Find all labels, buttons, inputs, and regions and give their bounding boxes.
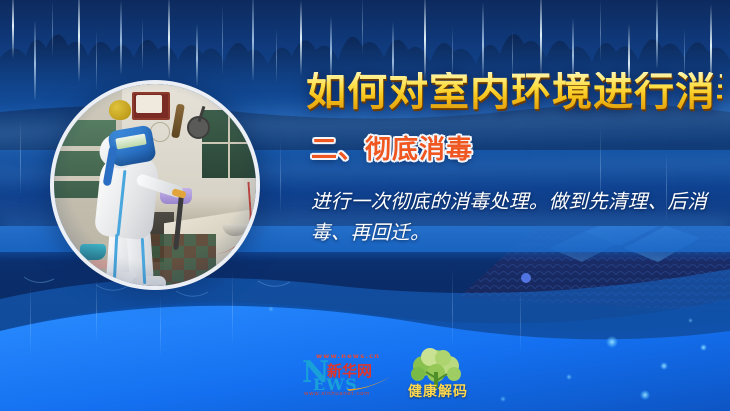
program-name: 健康解码: [408, 381, 468, 401]
body-paragraph: 进行一次彻底的消毒处理。做到先清理、后消毒、再回迁。: [311, 186, 711, 248]
program-logo: 健康解码: [390, 348, 482, 400]
xinhua-swoosh-icon: [346, 376, 392, 392]
page-title: 如何对室内环境进行消毒？: [306, 72, 722, 112]
photo-vignette: [54, 84, 256, 286]
poster-canvas: 如何对室内环境进行消毒？ 二、彻底消毒 进行一次彻底的消毒处理。做到先清理、后消…: [0, 0, 730, 411]
xinhua-logo: www.news.cn N EWS 新华网 www.xinhuanet.com: [302, 352, 388, 396]
photo-scene-kitchen: [54, 84, 256, 286]
section-heading: 二、彻底消毒: [311, 137, 473, 163]
disinfection-photo: [54, 84, 256, 286]
logo-row: www.news.cn N EWS 新华网 www.xinhuanet.com: [302, 352, 482, 400]
xinhua-url-bottom: www.xinhuanet.com: [304, 391, 370, 397]
